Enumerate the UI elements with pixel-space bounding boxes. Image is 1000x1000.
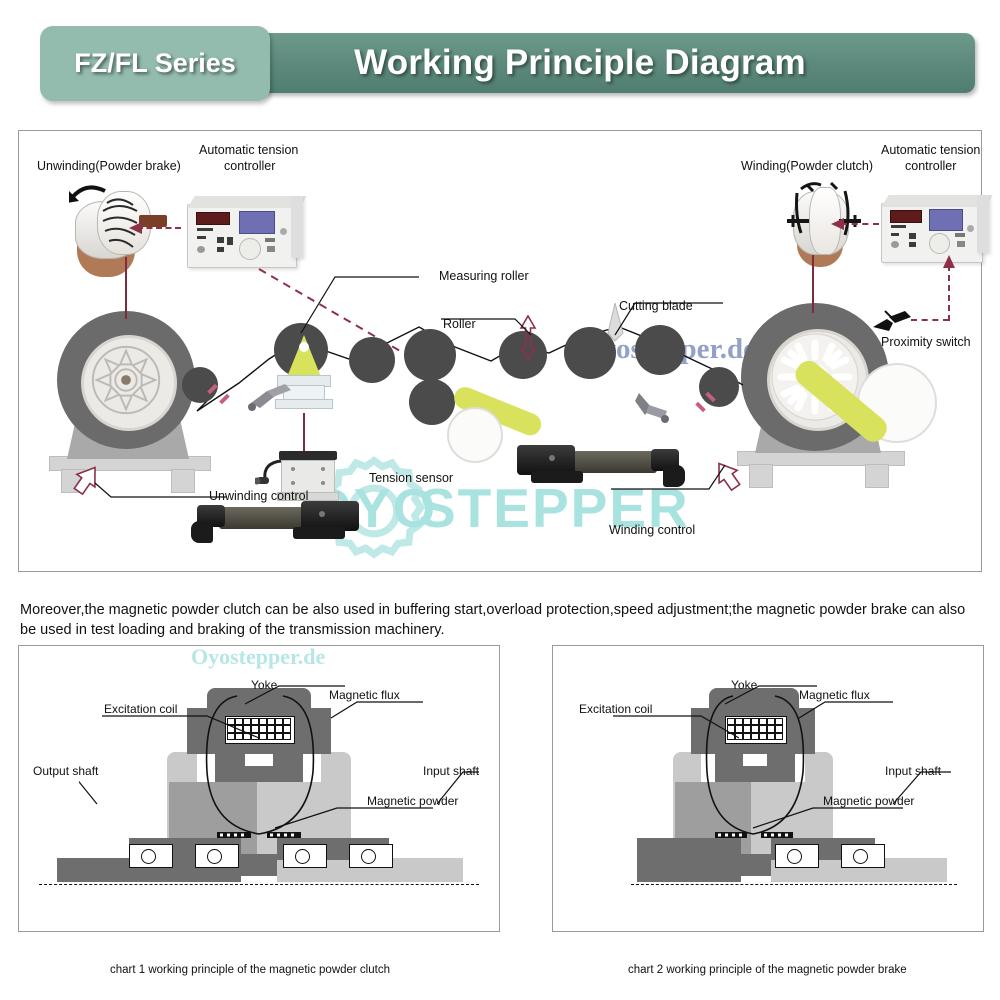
chart1-label-output-shaft: Output shaft [33, 764, 98, 778]
winding-control-leader [609, 463, 727, 491]
series-tab-label: FZ/FL Series [40, 26, 270, 101]
chart2-label-magnetic-flux: Magnetic flux [799, 688, 870, 702]
chart-1-caption: chart 1 working principle of the magneti… [110, 964, 390, 976]
chart2-label-magnetic-powder: Magnetic powder [823, 794, 914, 808]
middle-side-disc [447, 407, 503, 463]
chart-2-caption: chart 2 working principle of the magneti… [628, 964, 907, 976]
chart1-label-magnetic-powder: Magnetic powder [367, 794, 458, 808]
chart2-label-input-shaft: Input shaft [885, 764, 941, 778]
label-tension-sensor: Tension sensor [369, 471, 453, 486]
description-paragraph: Moreover,the magnetic powder clutch can … [20, 600, 982, 640]
chart2-centerline [631, 884, 957, 885]
chart1-label-magnetic-flux: Magnetic flux [329, 688, 400, 702]
label-winding-control: Winding control [609, 523, 695, 538]
label-unwinding-control: Unwinding control [209, 489, 308, 504]
label-measuring-roller: Measuring roller [439, 269, 529, 284]
chart1-label-yoke: Yoke [251, 678, 277, 692]
chart1-watermark: Oyostepper.de [191, 644, 325, 670]
chart1-centerline [39, 884, 479, 885]
chart2-label-excitation-coil: Excitation coil [579, 702, 652, 716]
chart-2-panel: Yoke Excitation coil Magnetic flux Magne… [552, 645, 984, 932]
roller-2 [349, 337, 395, 383]
label-roller: Roller [443, 317, 476, 332]
page-header: Working Principle Diagram FZ/FL Series [0, 0, 1000, 120]
page-title: Working Principle Diagram [230, 38, 930, 88]
roller-4 [409, 379, 455, 425]
chart1-label-input-shaft: Input shaft [423, 764, 479, 778]
measuring-roller-to-sensor-line [303, 413, 305, 453]
measuring-roller-leader [291, 271, 421, 337]
chart1-label-excitation-coil: Excitation coil [104, 702, 177, 716]
gripper-left-icon [247, 381, 293, 415]
roller-8 [699, 367, 739, 407]
gripper-right-icon [631, 387, 677, 425]
chart2-label-yoke: Yoke [731, 678, 757, 692]
chart-1-panel: Oyostepper.de [18, 645, 500, 932]
label-cutting-blade: Cutting blade [619, 299, 693, 314]
main-diagram-panel: Oyostepper.de OYO STEPPER [18, 130, 982, 572]
